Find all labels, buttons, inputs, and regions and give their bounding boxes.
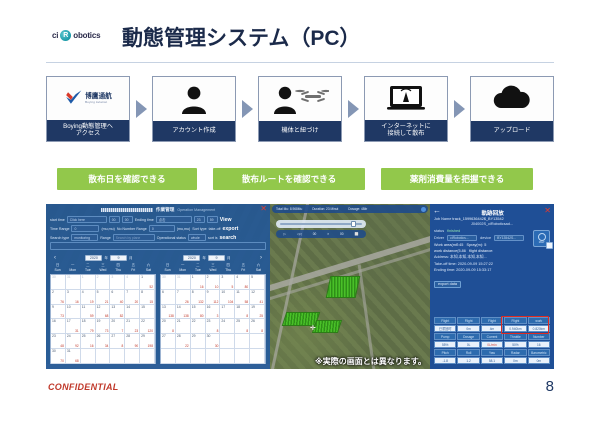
flow-node-label: 機体と紐づけ [259,121,341,141]
flow-node-upload[interactable]: アップロード [470,76,554,142]
day-number: 12 [97,305,101,309]
day-value: 52 [149,285,153,289]
calendar-day-cell[interactable] [250,334,265,349]
number-range-input[interactable]: 0 [149,225,175,232]
table-header-row: FlightFlightFlightFlightwork [434,317,550,324]
calendar-day-cell[interactable]: 35 [220,275,235,290]
day-value: 15 [149,300,153,304]
calendar-day-cell[interactable]: 276 [51,290,66,305]
day-value: 73 [105,329,109,333]
day-value: 80 [245,285,249,289]
left-month-unit: 月 [129,256,133,261]
table-cell: 50% [504,341,526,348]
range-label: Range [100,236,111,240]
page-title: 動態管理システム（PC） [122,22,361,52]
dow-en: Tue [80,268,95,273]
day-number: 14 [126,305,130,309]
day-value: 8 [122,344,124,348]
day-number: 27 [111,334,115,338]
day-value: 10 [215,285,219,289]
right-year-unit: 年 [202,256,206,261]
day-number: 12 [251,290,255,294]
disclaimer-note: ※実際の画面とは異なります。 [270,356,426,367]
page-number: 8 [546,378,554,395]
day-number: 3 [221,275,223,279]
day-number: 18 [82,319,86,323]
calendar-day-cell[interactable]: 16 [51,319,66,334]
day-number: 9 [52,305,54,309]
calendar-day-cell[interactable]: 14 [125,305,140,320]
dow-en: Mon [175,268,190,273]
calendar-day-cell[interactable]: 22120 [140,319,155,334]
day-number: 16 [52,319,56,323]
calendar-day-cell[interactable]: 2516 [81,334,96,349]
end-time-input[interactable]: 点击 [156,216,192,223]
day-value: 70 [60,359,64,363]
slide-header: ci R obotics 動態管理システム（PC） [0,0,600,62]
day-number: 16 [207,305,211,309]
flow-node-access[interactable]: 博鷹通航 Boying Aviation Boying動態管理へ アクセス [46,76,130,142]
calendar-day-cell[interactable]: 419 [81,290,96,305]
calendar-day-cell[interactable] [176,349,191,364]
calendar-dow-header-left: 日Sun一Mon二Tue三Wed四Thu五Fri六Sat [50,263,156,274]
calendar-day-cell[interactable]: 10104 [220,290,235,305]
left-month-select[interactable]: 9 [110,255,127,261]
day-number: 26 [97,334,101,338]
day-value: 58 [245,300,249,304]
calendar-day-cell[interactable]: 188 [235,305,250,320]
calendar-day-cell[interactable]: 6 [161,290,176,305]
day-number: 17 [221,305,225,309]
calendar-day-cell[interactable]: 208 [161,319,176,334]
panel-header: ← 軌跡回放 ✕ [430,204,554,217]
calendar-day-cell[interactable]: 163 [206,305,221,320]
search-type-label: Search type [50,236,69,240]
calendar-day-cell[interactable]: 521 [96,290,111,305]
export-button[interactable]: export [223,226,239,232]
day-number: 31 [67,349,71,353]
left-month-selector: 2020 年 9 月 [60,255,158,261]
table-cell: 0L [457,341,479,348]
expand-badge-icon[interactable] [546,242,553,249]
person-drone-icon [259,77,341,121]
day-value: 34 [105,344,109,348]
calendar-day-cell[interactable]: 1580 [191,305,206,320]
table-header-row: PumpDosageCurrentThrottleNumber [434,333,550,340]
calendar-day-cell[interactable]: 2492 [66,334,81,349]
calendar-dow: 二Tue [80,263,95,274]
calendar-dow: 五Fri [236,263,251,274]
person-icon [153,77,235,121]
fullscreen-icon[interactable]: ⬜ [354,232,358,236]
dow-en: Wed [205,268,220,273]
end-minute-select[interactable]: 59 [207,216,218,223]
day-number: 25 [82,334,86,338]
table-cell: -1.8 [434,357,456,364]
right-month-select[interactable]: 9 [208,255,225,261]
dow-en: Mon [65,268,80,273]
map-playback-controls[interactable]: ▷ ◁◁ 00 × 00 ⬜ [276,220,366,238]
table-header-cell: Throttle [504,333,526,340]
day-value: 8 [172,329,174,333]
day-number: 21 [126,319,130,323]
day-number: 30 [52,275,56,279]
dow-en: Sat [141,268,156,273]
job-name-value: track_1599636442$_BY13542 [452,217,503,221]
table-cell: 58.1 [481,357,503,364]
calendar-day-cell[interactable]: 15 [140,305,155,320]
spray-text: Spray(m): 5 [467,243,487,247]
table-header-cell: work [528,317,550,324]
day-value: 76 [60,300,64,304]
calendar-day-cell[interactable]: 2890 [125,334,140,349]
calendar-search-form: start time Click here 00 00 Ending time … [50,216,266,241]
calendar-day-cell[interactable]: 1731 [66,319,81,334]
spray-field-polygon [312,320,342,333]
day-value: 68 [75,359,79,363]
calendar-day-cell[interactable]: 1879 [81,319,96,334]
calendar-day-cell[interactable]: 1973 [96,319,111,334]
number-range-label: No Number Range [117,227,147,231]
titlebar-ornament [101,208,153,212]
flow-label-line1: アップロード [493,127,530,135]
day-number: 28 [126,334,130,338]
calendar-day-cell[interactable] [235,349,250,364]
calendar-day-cell[interactable]: 238 [206,319,221,334]
calendar-day-cell[interactable] [110,349,125,364]
day-number: 27 [162,334,166,338]
map-app-screenshot[interactable]: ✛ Total Mu: 8.968Mu Duration: 23 Minut D… [270,204,430,369]
day-number: 24 [221,319,225,323]
calendar-day-cell[interactable]: 29198 [140,334,155,349]
calendar-day-cell[interactable] [161,349,176,364]
table-header-cell: Current [481,333,503,340]
day-number: 20 [162,319,166,323]
calendar-day-cell[interactable]: 2 [96,275,111,290]
work-area-text: Work area(mб:45 [434,243,463,247]
end-time-label: Ending time [135,218,154,222]
flow-label-line1: アカウント作成 [172,127,215,135]
day-number: 23 [52,334,56,338]
form-row-time: start time Click here 00 00 Ending time … [50,216,266,223]
flight-distance-text: flight distance: [469,249,493,253]
start-hour-select[interactable]: 00 [109,216,120,223]
map-stat-total-mu: Total Mu: 8.968Mu [276,207,302,211]
calendar-day-cell[interactable]: 210 [206,275,221,290]
device-input[interactable]: BY13542S... [494,235,524,241]
day-value: 5 [232,285,234,289]
table-header-cell: Dosage [457,333,479,340]
start-time-label: start time [50,218,65,222]
form-row-range: Time Range 0 (mu,mu) No Number Range 0 (… [50,225,266,232]
calendar-day-cell[interactable] [81,349,96,364]
job-name-value2: J04002S_ciRoboticsad... [434,222,550,227]
calendar-day-cell[interactable]: 13138 [161,305,176,320]
calendar-day-cell[interactable]: 480 [235,275,250,290]
laptop-antenna-icon [365,77,447,120]
boying-cn-text: 博鷹通航 [85,93,112,100]
close-icon[interactable]: ✕ [260,205,267,213]
benefit-box-spray-date: 散布日を確認できる [57,168,197,190]
right-year-select[interactable]: 2020 [183,255,200,261]
calendar-day-cell[interactable]: 640 [110,290,125,305]
close-icon[interactable]: ✕ [544,207,551,215]
day-number: 11 [82,305,86,309]
playback-counter: 00 [313,232,317,236]
sort-type-label: Sort type [192,227,206,231]
prev-month-icon[interactable]: ‹ [50,255,60,261]
dow-en: Wed [95,268,110,273]
day-value: 112 [213,300,218,304]
driver-input[interactable]: ciRobotics... [447,235,477,241]
calendar-day-cell[interactable] [250,349,265,364]
calendar-day-cell[interactable]: 1382 [110,305,125,320]
start-minute-select[interactable]: 00 [122,216,133,223]
dow-en: Thu [111,268,126,273]
day-value: 79 [90,329,94,333]
table-cell: 1.2 [457,357,479,364]
calendar-day-cell[interactable]: 2348 [51,334,66,349]
calendar-day-cell[interactable]: 316 [66,290,81,305]
day-number: 20 [111,319,115,323]
flow-node-create-account[interactable]: アカウント作成 [152,76,236,142]
day-number: 24 [67,334,71,338]
calendar-summary-strip [50,242,266,250]
boying-check-mark-icon [64,89,83,108]
calendar-day-cell[interactable]: 31 [176,275,191,290]
calendar-day-cell[interactable]: 1159 [81,305,96,320]
day-number: 3 [111,275,113,279]
day-value: 132 [198,300,203,304]
day-number: 17 [67,319,71,323]
calendar-day-cell[interactable]: 30 [51,275,66,290]
work-distance-text: work distance(5.86 [434,249,466,253]
calendar-day-cell[interactable]: 21 [176,319,191,334]
calendar-day-cell[interactable]: 207 [110,319,125,334]
calendar-day-cell[interactable]: 29 [191,334,206,349]
job-name-block: Job Name track_1599636442$_BY13542 J0400… [434,217,550,227]
calendar-day-cell[interactable]: 3 [110,275,125,290]
table-header-cell: Flight [457,317,479,324]
calendar-day-cell[interactable] [206,349,221,364]
calendar-day-cell[interactable]: 31 [66,275,81,290]
number-range-unit: (mu,mu) [177,227,190,231]
calendar-day-cell[interactable]: 9112 [206,290,221,305]
cloud-icon [471,77,553,121]
calendar-day-cell[interactable] [96,349,111,364]
search-button[interactable]: search [220,235,237,241]
day-value: 3 [217,314,219,318]
flow-node-internet-spray[interactable]: インターネットに 接続して散布 [364,76,448,142]
calendar-day-cell[interactable]: 152 [140,275,155,290]
calendar-day-cell[interactable]: 278 [110,334,125,349]
thumbnail-ring [538,233,546,241]
calendar-day-cell[interactable]: 30 [161,275,176,290]
header-divider [46,62,554,63]
calendar-day-cell[interactable]: 24 [220,319,235,334]
rewind-icon[interactable]: ◁◁ [297,232,302,236]
flow-node-bind-drone[interactable]: 機体と紐づけ [258,76,342,142]
calendar-day-cell[interactable]: 22 [191,319,206,334]
calendar-day-cell[interactable]: 3070 [51,349,66,364]
calendar-day-cell[interactable]: 3168 [66,349,81,364]
calendar-dow: 二Tue [190,263,205,274]
table-header-cell: Pitch [434,349,456,356]
day-number: 1 [82,275,84,279]
calendar-day-cell[interactable]: 1268 [96,305,111,320]
sort-is-label: sort is [208,236,218,240]
day-number: 11 [236,290,240,294]
calendar-day-cell[interactable]: 258 [235,319,250,334]
range-unit-label: (mu,mu) [101,227,114,231]
map-settings-icon[interactable] [421,207,426,212]
calendar-day-cell[interactable]: 720 [125,290,140,305]
calendar-dow-header-right: 日Sun一Mon二Tue三Wed四Thu五Fri六Sat [160,263,266,274]
track-playback-panel[interactable]: ← 軌跡回放 ✕ Job Name track_1599636442$_BY13… [430,204,554,369]
calendar-day-cell[interactable] [220,349,235,364]
confidential-label: CONFIDENTIAL [48,382,119,392]
flow-node-label: Boying動態管理へ アクセス [47,120,129,142]
back-arrow-icon[interactable]: ← [433,207,441,215]
calendar-dow: 三Wed [205,263,220,274]
calendar-day-cell[interactable]: 973 [51,305,66,320]
calendar-day-cell[interactable]: 10 [66,305,81,320]
time-range-input[interactable]: 0 [71,225,99,232]
day-value: 8 [246,329,248,333]
calendar-day-cell[interactable]: 2123 [125,319,140,334]
end-hour-select[interactable]: 23 [194,216,205,223]
dow-en: Thu [221,268,236,273]
day-value: 16 [200,285,204,289]
calendar-day-cell[interactable]: 4 [125,275,140,290]
day-value: 22 [185,344,189,348]
calendar-dow: 一Mon [65,263,80,274]
flow-node-label: アップロード [471,121,553,141]
job-name-label: Job Name [434,217,451,221]
calendar-dow: 五Fri [126,263,141,274]
search-type-select[interactable]: monitoring [71,234,98,241]
calendar-day-cell[interactable]: 1925 [250,305,265,320]
calendar-window-subtitle: Operation Management [177,208,215,212]
flow-arrow-2 [236,76,258,142]
logo-suffix-text: obotics [73,31,100,40]
calendar-day-cell[interactable]: 8132 [191,290,206,305]
calendar-day-cell[interactable] [220,334,235,349]
calendar-day-cell[interactable]: 2634 [96,334,111,349]
play-icon[interactable]: ▷ [283,232,285,236]
table-header-cell: Flight [504,317,526,324]
calendar-day-cell[interactable]: 116 [191,275,206,290]
playback-buttons[interactable]: ▷ ◁◁ 00 × 00 ⬜ [276,230,366,238]
calendar-day-cell[interactable]: 726 [176,290,191,305]
calendar-day-cell[interactable]: 17 [220,305,235,320]
day-value: 80 [200,314,204,318]
drone-marker-icon: ✛ [310,324,316,332]
calendar-grid-left[interactable]: 3031123415227631641952164072081597310115… [50,274,156,365]
calendar-day-cell[interactable]: 27 [161,334,176,349]
calendar-day-cell[interactable]: 14138 [176,305,191,320]
day-value: 16 [75,300,79,304]
detail-row-address: Address: 本知,本知,本知,本知... [434,255,550,260]
day-value: 23 [135,329,139,333]
table-cell: 0L/min [481,341,503,348]
day-number: 19 [97,319,101,323]
benefit-boxes: 散布日を確認できる 散布ルートを確認できる 薬剤消費量を把握できる [57,168,547,190]
day-number: 4 [126,275,128,279]
device-label: device [480,236,491,240]
calendar-day-cell[interactable] [235,334,250,349]
dow-en: Sun [50,268,65,273]
calendar-day-cell[interactable] [191,349,206,364]
day-number: 6 [162,290,164,294]
calendar-dow: 六Sat [251,263,266,274]
calendar-app-screenshot[interactable]: 作業管理 Operation Management ✕ start time C… [46,204,270,369]
table-row: 已重回时0m4m0.940km0.820km [434,325,550,332]
calendar-day-cell[interactable]: 1 [81,275,96,290]
day-number: 15 [192,305,196,309]
calendar-day-cell[interactable] [140,349,155,364]
start-time-input[interactable]: Click here [67,216,107,223]
calendar-day-cell[interactable] [125,349,140,364]
ci-robotics-logo: ci R obotics [52,30,100,41]
day-number: 31 [67,275,71,279]
table-row: -1.81.258.10m0m [434,357,550,364]
playback-slider[interactable] [276,220,366,228]
export-data-button[interactable]: export data [434,281,461,288]
view-button[interactable]: View [220,217,232,223]
day-value: 68 [105,314,109,318]
day-number: 8 [141,290,143,294]
robotics-circle-icon: R [60,30,71,41]
search-input[interactable]: Search by plane [113,234,155,241]
dow-en: Fri [236,268,251,273]
left-year-select[interactable]: 2020 [85,255,102,261]
calendar-day-cell[interactable]: 1158 [235,290,250,305]
day-value: 90 [135,344,139,348]
day-number: 13 [162,305,166,309]
day-number: 25 [236,319,240,323]
day-number: 1 [141,275,143,279]
boying-logo-icon: 博鷹通航 Boying Aviation [47,77,129,120]
next-month-icon[interactable]: › [256,255,266,261]
calendar-grid-right[interactable]: 3031116210354805672681329112101041158124… [160,274,266,365]
calendar-day-cell[interactable]: 3030 [206,334,221,349]
calendar-day-cell[interactable]: 1241 [250,290,265,305]
table-cell: 0m [504,357,526,364]
day-value: 7 [122,329,124,333]
day-number: 13 [111,305,115,309]
operational-status-label: Operational status [157,236,186,240]
day-number: 1 [192,275,194,279]
playback-speed-icon[interactable]: × [327,232,329,236]
operational-status-select[interactable]: whole [188,234,206,241]
calendar-day-cell[interactable]: 5 [250,275,265,290]
day-value: 40 [120,300,124,304]
table-row: 55%0L0L/min50%16 [434,341,550,348]
calendar-day-cell[interactable]: 268 [250,319,265,334]
day-value: 31 [75,329,79,333]
detail-row-takeoff: Take-off time: 2020-09-09 15:27:22 [434,262,550,266]
dow-en: Sun [160,268,175,273]
calendar-statusbar [46,364,270,369]
calendar-day-cell[interactable]: 815 [140,290,155,305]
day-number: 6 [111,290,113,294]
sort-type-value[interactable]: take-off [209,227,221,231]
calendar-day-cell[interactable]: 2822 [176,334,191,349]
calendar-navigation: ‹ 2020 年 9 月 2020 年 9 月 › [50,254,266,262]
slide: ci R obotics 動態管理システム（PC） 博鷹通航 [0,0,600,424]
spray-field-polygon [326,276,361,298]
